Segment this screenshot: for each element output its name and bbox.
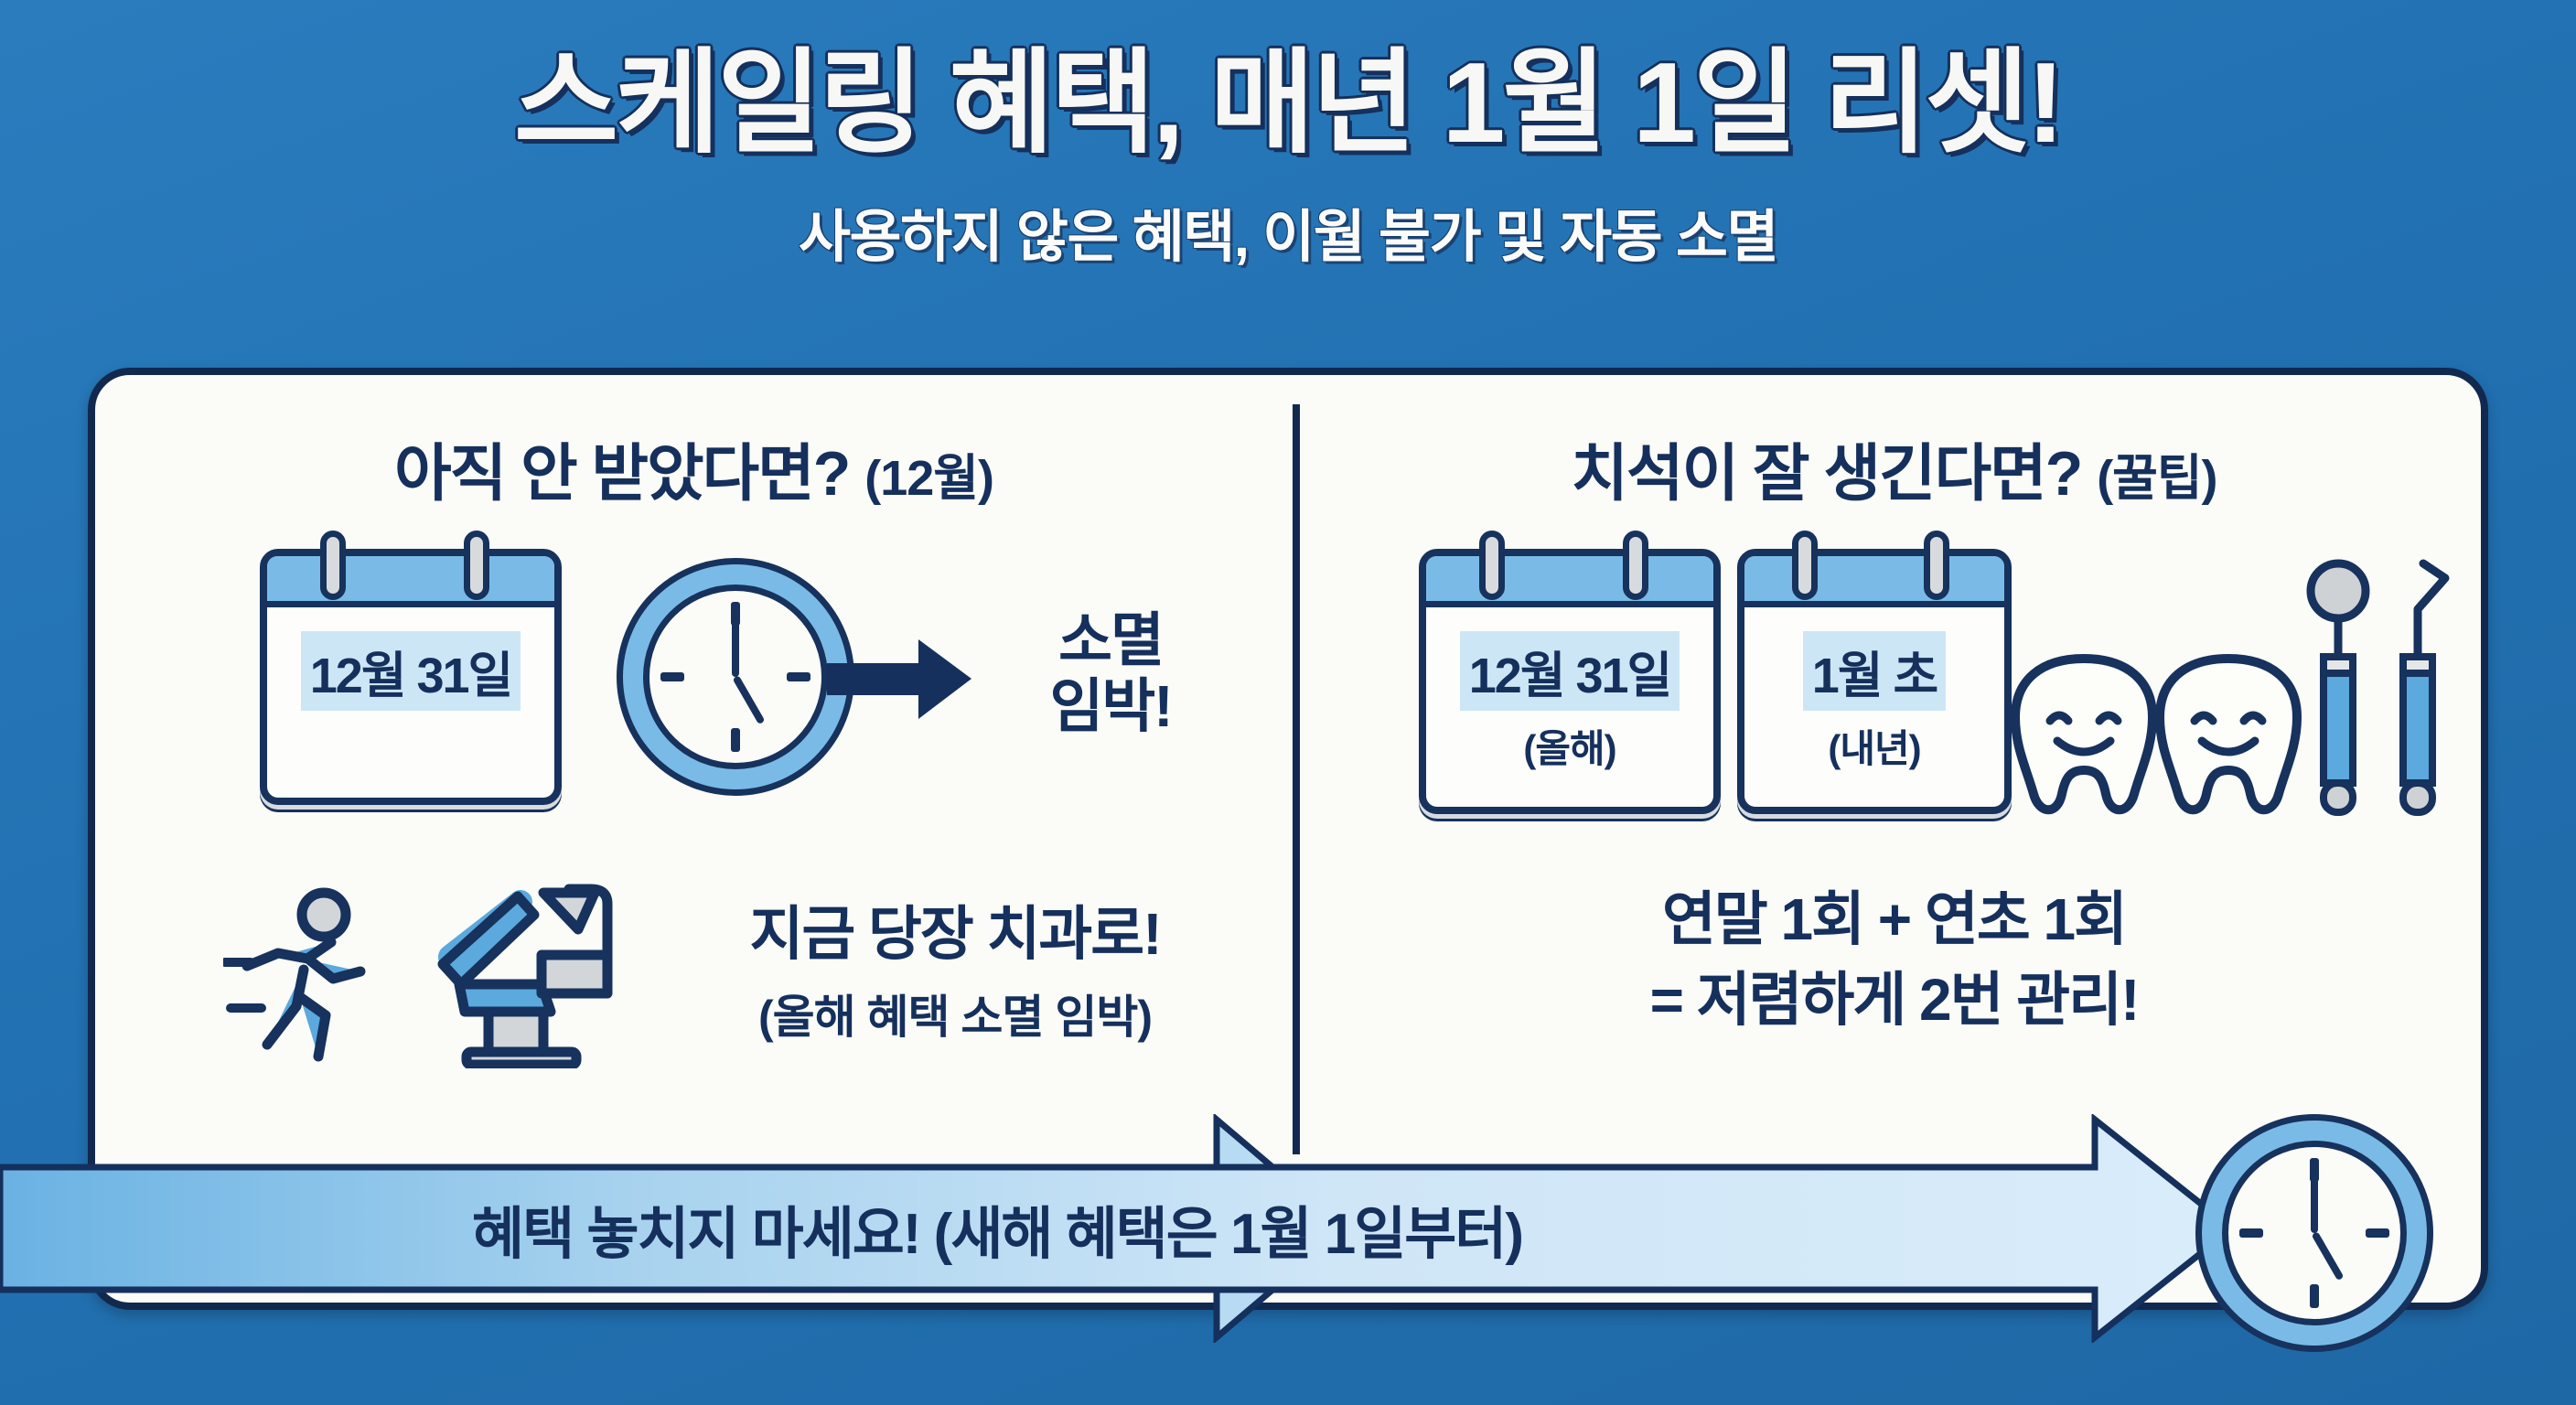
clock-hour-hand [733, 675, 766, 724]
calendar-ring [1623, 531, 1648, 600]
clock-face [2222, 1141, 2407, 1325]
running-person-icon [223, 887, 406, 1066]
bottom-banner: 혜택 놓치지 마세요! (새해 혜택은 1월 1일부터) [0, 1114, 2287, 1343]
benefit-text-block: 연말 1회 + 연초 1회 = 저렴하게 2번 관리! [1300, 887, 2488, 1033]
left-panel-heading: 아직 안 받았다면? (12월) [95, 423, 1293, 513]
arrow-right-icon-left [827, 636, 973, 723]
calendar-ring [1479, 531, 1505, 600]
right-heading-sub: (꿀팁) [2097, 451, 2216, 506]
left-heading-sub: (12월) [864, 451, 993, 506]
calendar-dec31-right: 12월 31일 (올해) [1419, 549, 1721, 814]
benefit-line1: 연말 1회 + 연초 1회 [1300, 887, 2488, 953]
calendar-body: 12월 31일 (올해) [1426, 607, 1713, 774]
calendar-date-label: 1월 초 [1803, 631, 1946, 711]
calendar-ring [1924, 531, 1949, 600]
banner-text: 혜택 놓치지 마세요! (새해 혜택은 1월 1일부터) [0, 1187, 1994, 1270]
clock-icon-banner [2195, 1114, 2433, 1352]
header: 스케일링 혜택, 매년 1월 1일 리셋! 사용하지 않은 혜택, 이월 불가 … [0, 0, 2576, 366]
dental-chair-icon [434, 876, 644, 1068]
page-title: 스케일링 혜택, 매년 1월 1일 리셋! [0, 44, 2576, 163]
calendar-body: 1월 초 (내년) [1744, 607, 2004, 774]
calendar-jan-early: 1월 초 (내년) [1737, 549, 2012, 814]
right-heading-main: 치석이 잘 생긴다면? [1571, 439, 2081, 509]
calendar-date-label: 12월 31일 [1460, 631, 1680, 711]
clock-tick-6 [731, 728, 740, 752]
clock-hour-hand [2312, 1231, 2345, 1281]
expiry-warning-text: 소멸 임박! [973, 608, 1248, 739]
cta-text-block: 지금 당장 치과로! (올해 혜택 소멸 임박) [644, 902, 1266, 1046]
calendar-year-label: (내년) [1828, 718, 1920, 774]
clock-minute-hand [2311, 1164, 2318, 1233]
clock-tick-9 [2239, 1228, 2263, 1238]
calendar-header-band [1426, 556, 1713, 607]
calendar-ring [1792, 531, 1818, 600]
clock-tick-3 [2366, 1228, 2389, 1238]
panel-divider [1293, 404, 1300, 1154]
calendar-dec31-left: 12월 31일 [260, 549, 562, 805]
calendar-body: 12월 31일 [267, 607, 554, 711]
panel-not-yet-received: 아직 안 받았다면? (12월) 12월 31일 [95, 375, 1293, 1171]
dental-scaler-icon [2381, 554, 2463, 820]
calendar-header-band [267, 556, 554, 607]
benefit-line2: = 저렴하게 2번 관리! [1300, 968, 2488, 1034]
clock-icon-left [617, 558, 854, 796]
calendar-ring [320, 531, 346, 600]
tooth-smiling-icon [2149, 649, 2309, 819]
panel-tartar-tip: 치석이 잘 생긴다면? (꿀팁) 12월 31일 (올해) 1월 초 (내년) [1300, 375, 2488, 1171]
calendar-header-band [1744, 556, 2004, 607]
clock-tick-9 [660, 672, 684, 681]
calendar-year-label: (올해) [1523, 718, 1615, 774]
expiry-warning-line1: 소멸 [973, 608, 1248, 674]
cta-line2: (올해 혜택 소멸 임박) [644, 981, 1266, 1046]
expiry-warning-line2: 임박! [973, 674, 1248, 740]
left-heading-main: 아직 안 받았다면? [394, 439, 849, 509]
page-subtitle: 사용하지 않은 혜택, 이월 불가 및 자동 소멸 [0, 190, 2576, 273]
calendar-ring [464, 531, 489, 600]
dental-mirror-icon [2302, 554, 2375, 820]
tooth-smiling-icon [2004, 649, 2164, 819]
clock-tick-3 [787, 672, 810, 681]
right-panel-heading: 치석이 잘 생긴다면? (꿀팁) [1300, 423, 2488, 513]
calendar-date-label: 12월 31일 [301, 631, 521, 711]
clock-minute-hand [732, 607, 739, 677]
cta-line1: 지금 당장 치과로! [644, 902, 1266, 968]
clock-tick-6 [2310, 1284, 2319, 1308]
clock-face [643, 585, 828, 769]
